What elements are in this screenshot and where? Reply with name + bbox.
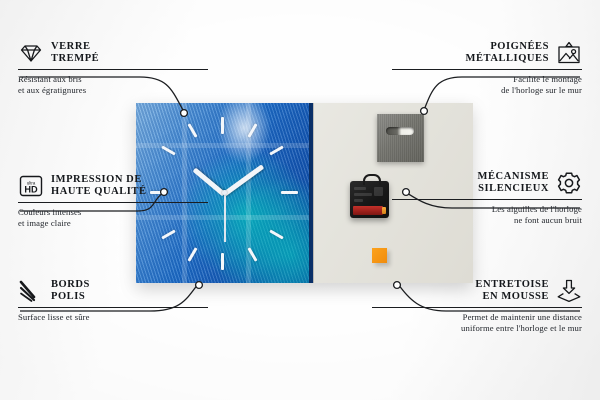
feature-mecanisme-silencieux: MÉCANISME SILENCIEUX Les aiguilles de l'…: [392, 170, 582, 226]
foam-spacer: [372, 248, 387, 263]
feature-subtitle-line: Les aiguilles de l'horloge: [492, 204, 582, 214]
infographic-canvas: VERRE TREMPÉ Résistant aux bris et aux é…: [0, 0, 600, 400]
feature-title-line: HAUTE QUALITÉ: [51, 186, 147, 197]
feature-subtitle-line: de l'horloge sur le mur: [501, 85, 582, 95]
feature-title-line: BORDS: [51, 279, 90, 290]
keyhole-slot: [386, 127, 414, 135]
foam-spacer-icon: [556, 278, 582, 304]
feature-rule: [18, 307, 208, 308]
clock-tick: [221, 253, 224, 270]
feature-subtitle-line: et aux égratignures: [18, 85, 86, 95]
feature-subtitle-line: Facilite le montage: [513, 74, 582, 84]
clock-tick: [269, 229, 283, 239]
gear-icon: [556, 170, 582, 196]
clock-tick: [187, 123, 197, 137]
metal-hanger-plate: [377, 114, 424, 162]
feature-verre-trempe: VERRE TREMPÉ Résistant aux bris et aux é…: [18, 40, 208, 96]
battery: [353, 206, 383, 215]
feature-title-line: ENTRETOISE: [475, 279, 549, 290]
feature-title-line: VERRE: [51, 41, 91, 52]
clock-minute-hand: [223, 164, 265, 196]
polished-edges-icon: [18, 278, 44, 304]
feature-title-line: POLIS: [51, 291, 85, 302]
feature-title-line: MÉTALLIQUES: [466, 53, 549, 64]
feature-rule: [372, 307, 582, 308]
clock-tick: [281, 191, 298, 194]
clock-tick: [187, 247, 197, 261]
feature-entretoise-en-mousse: ENTRETOISE EN MOUSSE Permet de maintenir…: [372, 278, 582, 334]
feature-impression-haute-qualite: ultra HD IMPRESSION DE HAUTE QUALITÉ Cou…: [18, 173, 208, 229]
feature-rule: [18, 69, 208, 70]
feature-subtitle-line: ne font aucun bruit: [514, 215, 582, 225]
feature-subtitle-line: Couleurs intenses: [18, 207, 81, 217]
feature-rule: [392, 199, 582, 200]
clock-pivot: [222, 190, 227, 195]
feature-rule: [18, 202, 208, 203]
feature-subtitle-line: uniforme entre l'horloge et le mur: [461, 323, 582, 333]
feature-title-line: POIGNÉES: [490, 41, 549, 52]
clock-tick: [221, 117, 224, 134]
feature-title-line: TREMPÉ: [51, 53, 99, 64]
glass-shine: [217, 103, 270, 164]
hanging-loop: [363, 174, 381, 185]
clock-second-hand: [224, 192, 226, 242]
picture-hanger-icon: [556, 40, 582, 66]
feature-title-line: EN MOUSSE: [482, 291, 549, 302]
clock-tick: [161, 229, 175, 239]
clock-mechanism: [350, 181, 389, 218]
feature-title-line: SILENCIEUX: [478, 183, 549, 194]
feature-rule: [392, 69, 582, 70]
feature-bords-polis: BORDS POLIS Surface lisse et sûre: [18, 278, 208, 323]
feature-subtitle-line: Surface lisse et sûre: [18, 312, 90, 322]
feature-title-line: IMPRESSION DE: [51, 174, 142, 185]
ultra-hd-main-text: HD: [24, 185, 38, 195]
diamond-icon: [18, 40, 44, 66]
feature-subtitle-line: et image claire: [18, 218, 71, 228]
feature-poignees-metalliques: POIGNÉES MÉTALLIQUES Facilite le montage…: [392, 40, 582, 96]
feature-subtitle-line: Résistant aux bris: [18, 74, 82, 84]
ultra-hd-icon: ultra HD: [18, 173, 44, 199]
feature-subtitle-line: Permet de maintenir une distance: [463, 312, 582, 322]
feature-title-line: MÉCANISME: [478, 171, 549, 182]
